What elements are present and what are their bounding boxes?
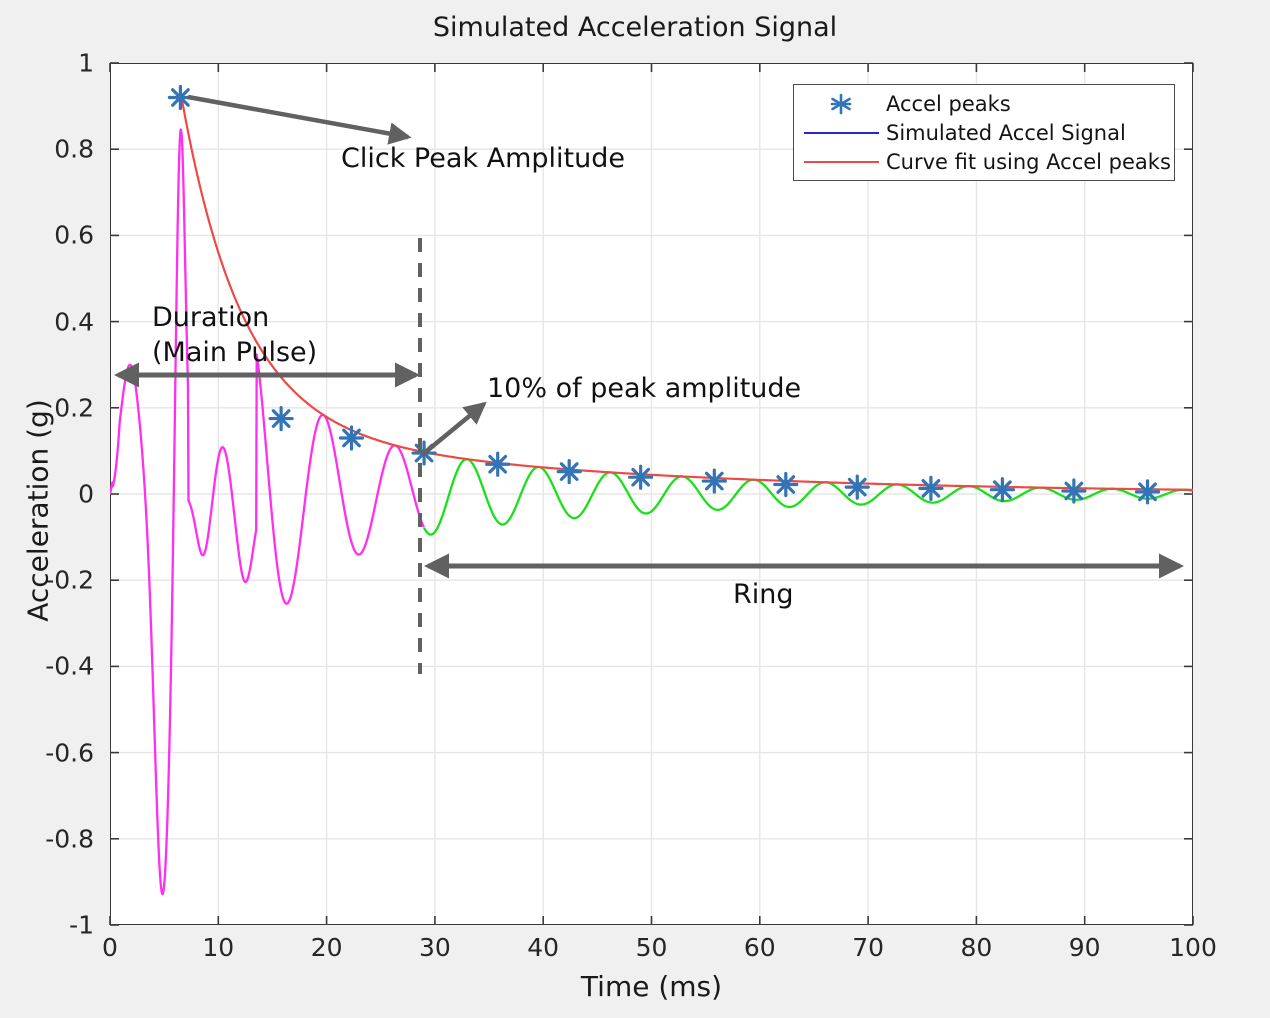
annotation-ring: Ring [733,579,794,610]
peak-marker [1063,480,1085,502]
peak-marker [487,453,509,475]
peak-marker [846,476,868,498]
x-tick-label: 10 [173,933,263,962]
x-tick-label: 100 [1148,933,1238,962]
legend-item-accel-peaks[interactable]: Accel peaks [794,89,1176,118]
legend-label-curve-fit: Curve fit using Accel peaks [886,150,1171,174]
legend-label-accel-peaks: Accel peaks [886,92,1011,116]
gridlines [110,63,1193,925]
legend[interactable]: Accel peaks Simulated Accel Signal Curve… [793,84,1175,181]
simulated-signal-ring [424,459,1193,534]
y-tick-label: 0.8 [0,135,94,164]
simulated-signal-main-pulse [110,130,424,894]
peak-marker [341,427,363,449]
y-tick-label: 1 [0,49,94,78]
peak-marker [270,408,292,430]
legend-label-simulated-signal: Simulated Accel Signal [886,121,1126,145]
ten-percent-peak-arrow [422,404,484,455]
y-tick-label: -0.8 [0,824,94,853]
y-axis-label: Acceleration (g) [22,261,55,761]
peak-marker [920,477,942,499]
peak-marker [558,461,580,483]
legend-marker-asterisk-icon [794,90,886,118]
legend-line-curve-fit-icon [794,148,886,176]
legend-line-simulated-signal-icon [794,119,886,147]
figure-container: Simulated Acceleration Signal [0,0,1270,1018]
peak-marker [991,479,1013,501]
legend-item-simulated-signal[interactable]: Simulated Accel Signal [794,118,1176,147]
annotation-duration-line2: (Main Pulse) [152,337,317,368]
x-tick-label: 40 [498,933,588,962]
peak-marker [703,470,725,492]
y-tick-label: 0.6 [0,221,94,250]
x-tick-label: 20 [282,933,372,962]
peak-marker [775,474,797,496]
annotation-duration-line1: Duration [152,302,269,333]
annotation-click-peak-amplitude: Click Peak Amplitude [341,143,625,174]
x-tick-label: 90 [1040,933,1130,962]
x-tick-label: 60 [715,933,805,962]
x-tick-label: 0 [65,933,155,962]
peak-marker [630,466,652,488]
x-axis-label: Time (ms) [110,970,1193,1003]
peak-marker [1137,481,1159,503]
x-tick-label: 50 [607,933,697,962]
legend-item-curve-fit[interactable]: Curve fit using Accel peaks [794,147,1176,176]
annotation-ten-percent-of-peak: 10% of peak amplitude [487,373,801,404]
x-tick-label: 70 [823,933,913,962]
x-tick-label: 80 [931,933,1021,962]
x-tick-label: 30 [390,933,480,962]
click-peak-amplitude-arrow [188,97,408,137]
